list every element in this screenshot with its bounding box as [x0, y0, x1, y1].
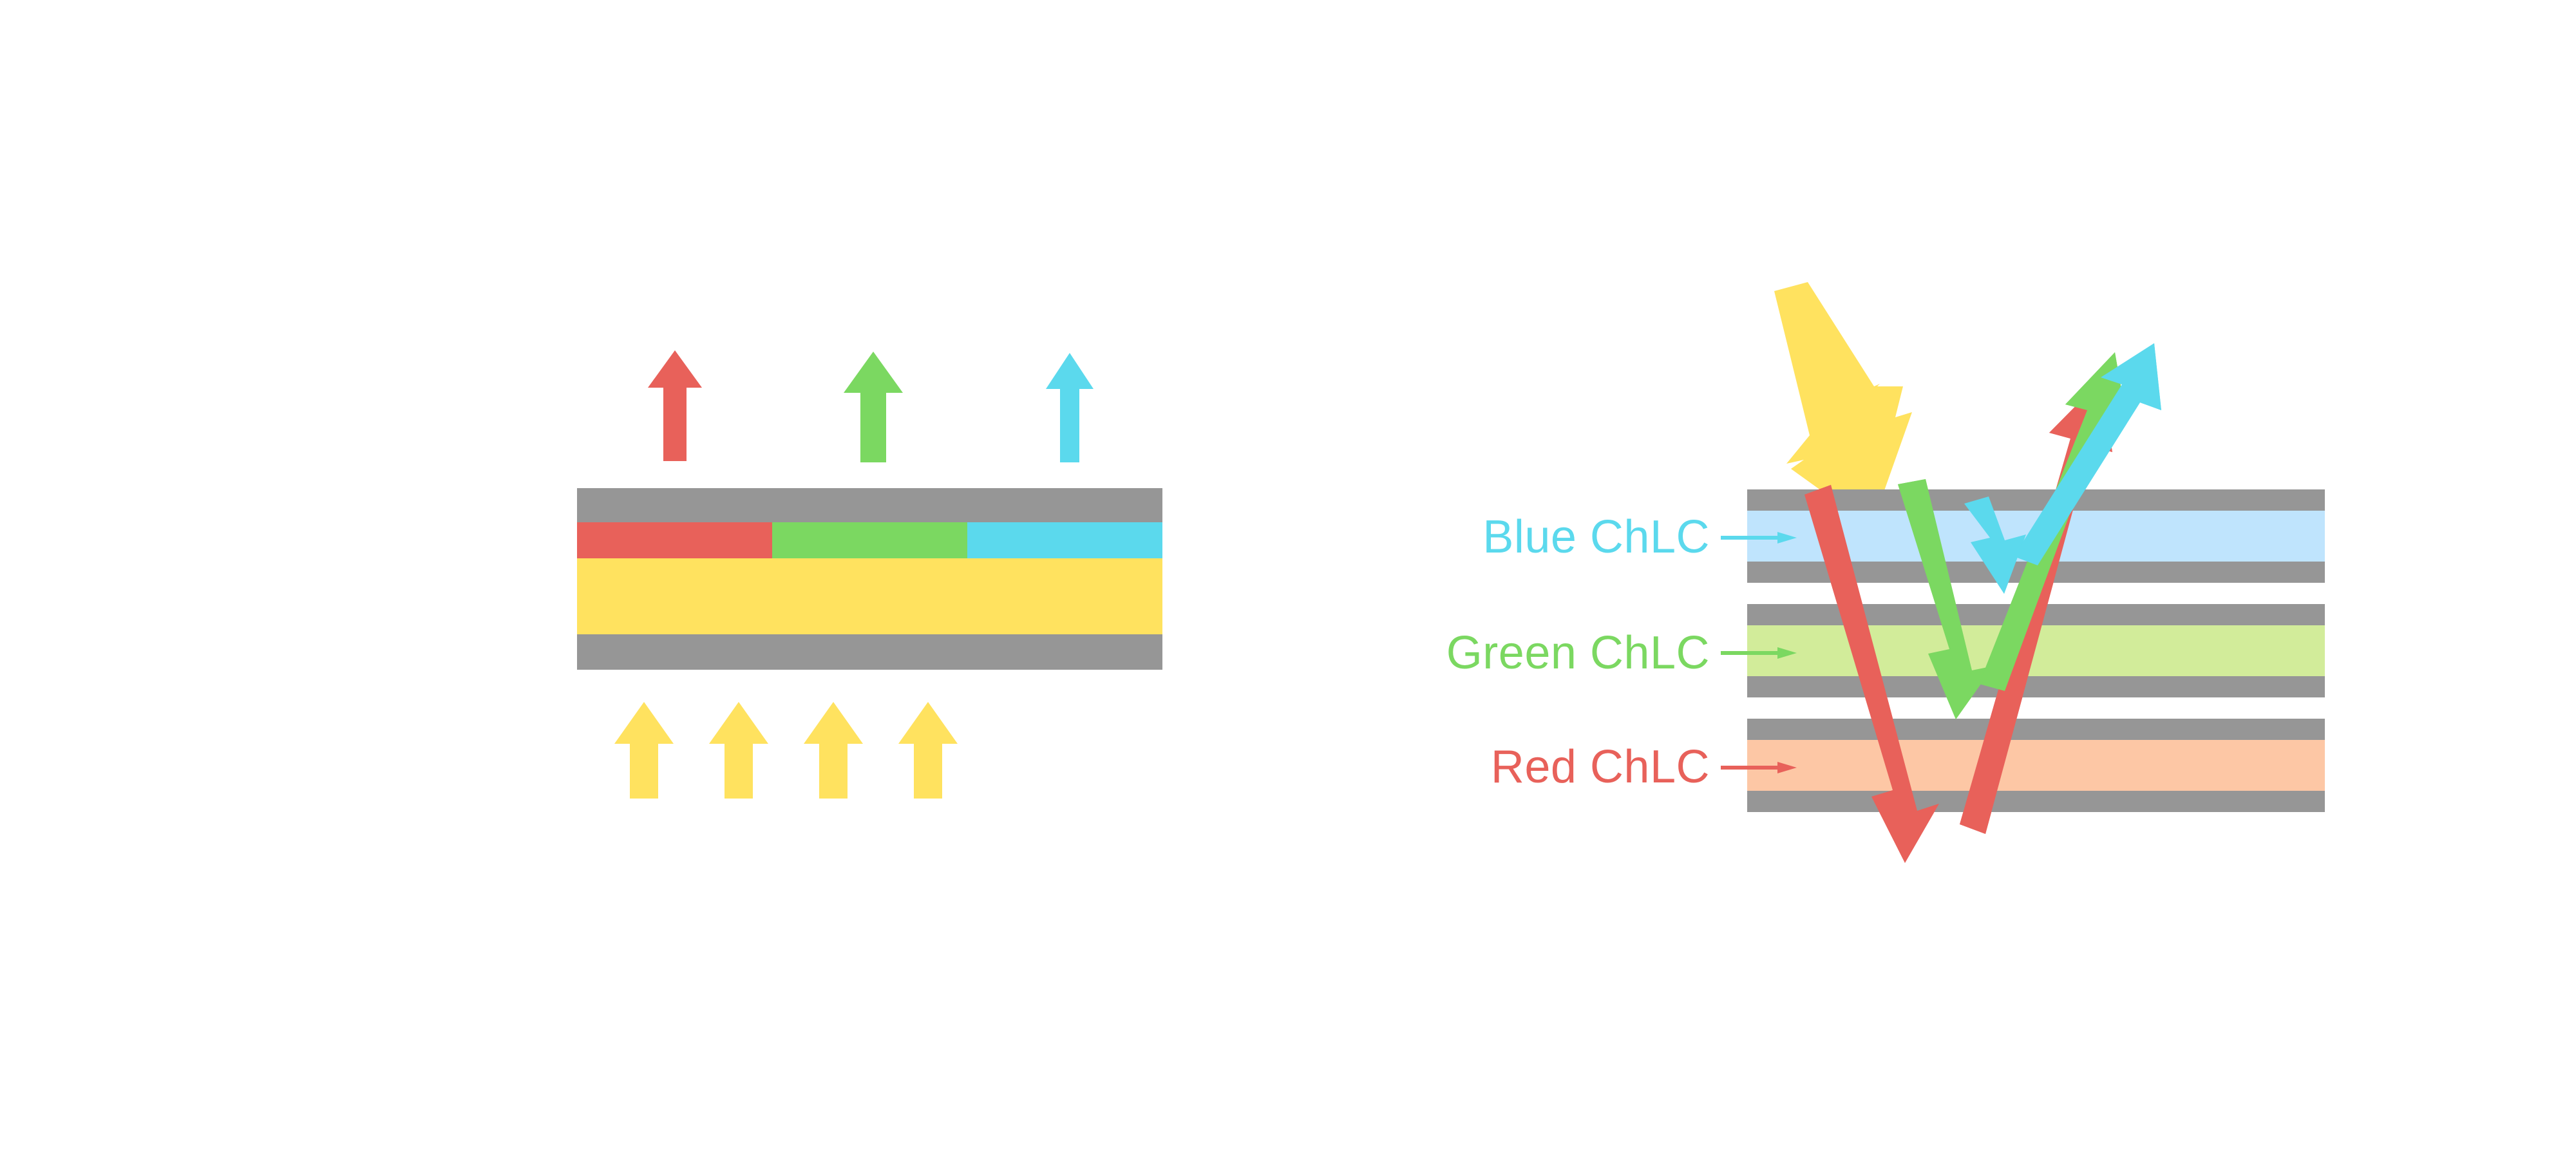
green-chlc-label: Green ChLC: [1446, 627, 1710, 679]
diagram-canvas: Blue ChLC Green ChLC Red ChLC: [0, 0, 2576, 1154]
backlight-layer: [577, 558, 1162, 634]
backlight-arrow-1: [614, 702, 674, 799]
backlight-arrow-2: [709, 702, 768, 799]
red-cell: [1747, 719, 2325, 812]
backlight-arrow-3: [804, 702, 863, 799]
red-subpixel: [577, 522, 772, 558]
emitted-green-arrow: [844, 352, 903, 462]
emitted-blue-arrow: [1046, 353, 1094, 462]
emitted-arrows-group: [648, 350, 1094, 462]
red-chlc-layer: [1747, 740, 2325, 791]
blue-chlc-label: Blue ChLC: [1482, 511, 1710, 563]
reflection-panel: Blue ChLC Green ChLC Red ChLC: [1446, 282, 2325, 863]
emission-panel: [577, 350, 1162, 799]
green-subpixel: [772, 522, 967, 558]
green-cell-bottom-electrode: [1747, 676, 2325, 697]
red-cell-top-electrode: [1747, 719, 2325, 740]
emission-top-electrode: [577, 488, 1162, 522]
emitted-red-arrow: [648, 350, 702, 461]
diagram-root: Blue ChLC Green ChLC Red ChLC: [0, 0, 2576, 1154]
red-cell-bottom-electrode: [1747, 791, 2325, 812]
emission-stack: [577, 488, 1162, 670]
blue-subpixel: [967, 522, 1162, 558]
backlight-arrow-4: [898, 702, 958, 799]
chlc-labels-group: Blue ChLC Green ChLC Red ChLC: [1446, 511, 1797, 793]
red-chlc-label: Red ChLC: [1491, 741, 1710, 793]
emission-bottom-electrode: [577, 634, 1162, 670]
backlight-arrows-group: [614, 702, 958, 799]
